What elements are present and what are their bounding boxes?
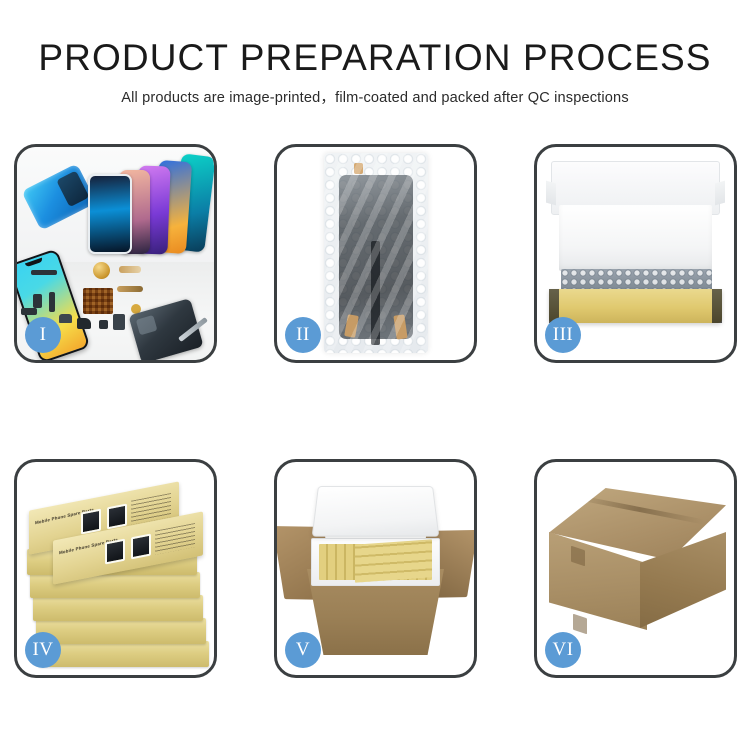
stacked-box-1 (39, 641, 209, 667)
part-connector-grid (83, 288, 113, 314)
carton-tape-patch-2 (573, 614, 587, 635)
part-small-3 (59, 314, 72, 323)
product-preparation-infographic: PRODUCT PREPARATION PROCESS All products… (0, 0, 750, 750)
header: PRODUCT PREPARATION PROCESS All products… (0, 36, 750, 108)
part-gold-coil (93, 262, 110, 279)
open-carton-image (281, 480, 470, 657)
eps-foam-lid (312, 486, 440, 537)
tape-tab-1 (354, 163, 363, 174)
part-flex-cable-1 (119, 266, 141, 273)
process-step-1: I (14, 144, 217, 363)
wrapped-flex-cable (371, 241, 380, 345)
process-step-grid: I II (14, 144, 737, 678)
box-spec-text-front (155, 523, 195, 555)
part-small-6 (99, 320, 108, 329)
page-subtitle: All products are image-printed，film-coat… (0, 89, 750, 108)
step-badge-4: IV (25, 632, 61, 668)
bubble-wrap-package-image (324, 153, 428, 353)
box-window-1-back (81, 509, 101, 535)
sealed-carton-image (547, 488, 726, 651)
part-small-7 (113, 314, 125, 330)
step-badge-5: V (285, 632, 321, 668)
carton-seam (574, 495, 704, 525)
process-step-5: V (274, 459, 477, 678)
part-small-5 (77, 318, 91, 329)
stacked-box-2 (36, 618, 206, 644)
box-window-2-back (107, 504, 127, 530)
part-small-8 (21, 308, 37, 315)
phone-lineup-image (82, 155, 210, 267)
process-step-6: VI (534, 459, 737, 678)
part-small-2 (49, 292, 55, 312)
step-badge-3: III (545, 317, 581, 353)
step-badge-2: II (285, 317, 321, 353)
phone-1-screen (88, 174, 132, 254)
yellow-box-tray (549, 289, 722, 323)
step-badge-6: VI (545, 632, 581, 668)
part-flex-cable-2 (117, 286, 143, 292)
inner-boxes-row-2 (355, 539, 432, 582)
process-step-2: II (274, 144, 477, 363)
step-badge-1: I (25, 317, 61, 353)
box-window-1-front (105, 539, 125, 565)
stacked-box-3 (33, 595, 203, 621)
box-window-2-front (131, 534, 151, 560)
part-small-1 (33, 294, 42, 308)
foam-sheet (559, 205, 712, 271)
process-step-3: III (534, 144, 737, 363)
open-inner-box-image (545, 161, 726, 334)
part-bar (31, 270, 57, 275)
process-step-4: Mobile Phone Spare Parts Mobile Phone Sp… (14, 459, 217, 678)
page-title: PRODUCT PREPARATION PROCESS (0, 36, 750, 80)
